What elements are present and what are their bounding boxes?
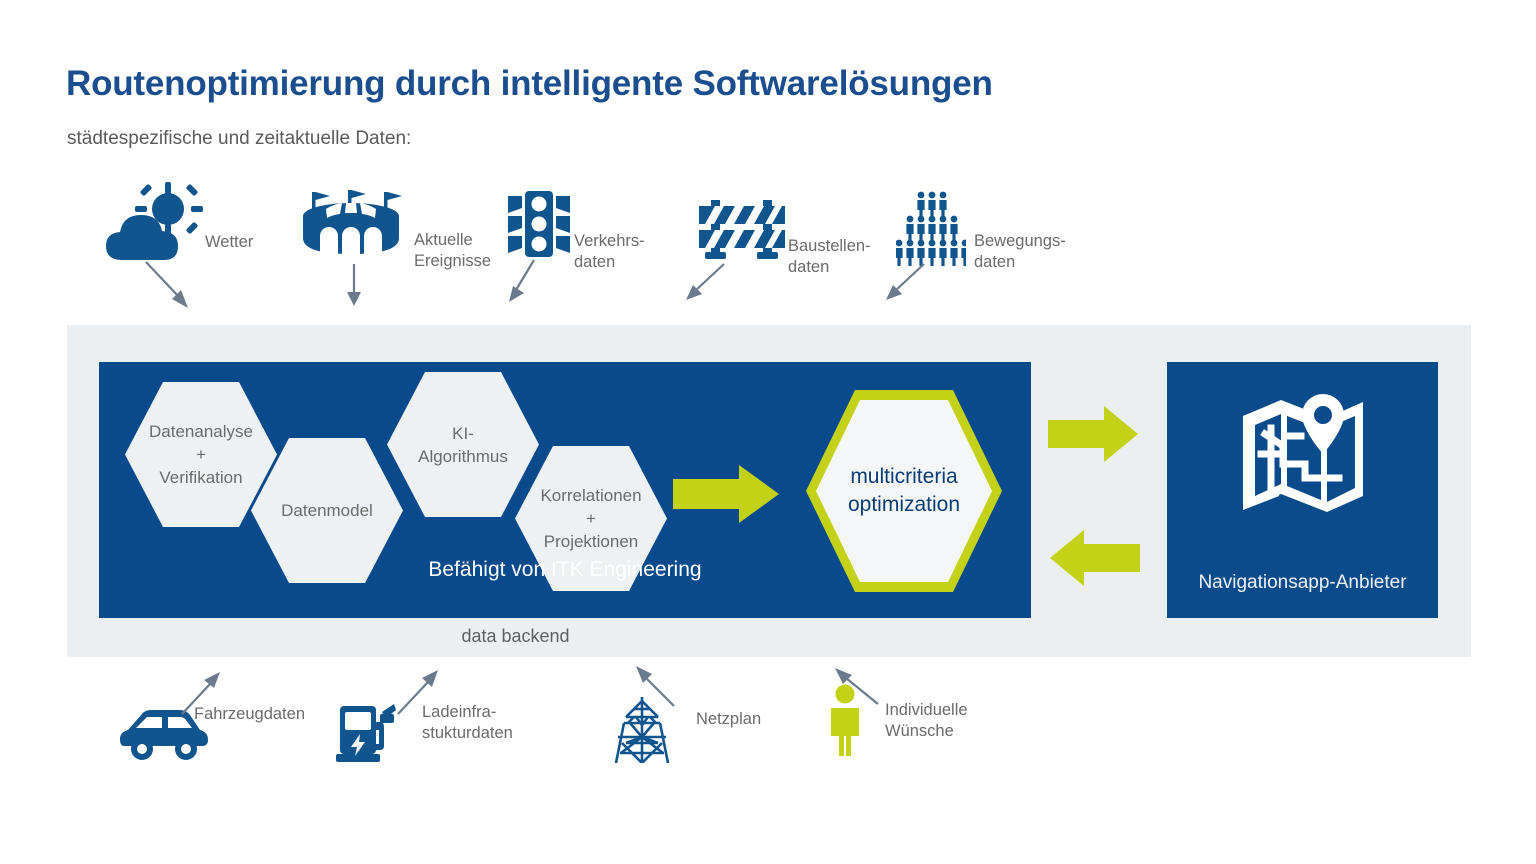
input-label-wetter: Wetter [205,232,253,253]
flow-arrow-up-ladeinfrastruktur [390,666,446,718]
input-item-verkehrsdaten[interactable]: Verkehrs- daten [508,191,570,257]
input-item-ladeinfrastruktur[interactable]: Ladeinfra- stukturdaten [336,700,398,762]
arrow-left-from-navapp-icon [1048,530,1140,586]
stadium-icon [296,190,406,260]
input-label-netzplan: Netzplan [696,709,761,730]
flow-arrow-up-netzplan [630,660,688,712]
input-label-bewegungsdaten: Bewegungs- daten [974,231,1066,273]
flow-arrow-down-ereignisse [344,262,370,310]
input-item-aktuelle-ereignisse[interactable]: Aktuelle Ereignisse [296,190,406,260]
input-label-individuelle-wuensche: Individuelle Wünsche [885,700,968,742]
flow-arrow-down-verkehrsdaten [506,258,554,310]
flow-arrow-up-fahrzeugdaten [172,666,228,718]
input-label-verkehrsdaten: Verkehrs- daten [574,231,645,273]
input-item-wetter[interactable]: Wetter [104,182,204,267]
navigation-app-label: Navigationsapp-Anbieter [1167,572,1438,594]
navigation-app-panel[interactable]: Navigationsapp-Anbieter [1167,362,1438,618]
construction-barrier-icon [697,196,787,260]
input-label-baustellendaten: Baustellen- daten [788,236,871,278]
flow-arrow-down-bewegungsdaten [880,262,938,314]
map-pin-icon [1235,392,1371,518]
people-crowd-icon [896,191,966,267]
traffic-light-icon [508,191,570,257]
page-subtitle: städtespezifische und zeitaktuelle Daten… [67,128,411,150]
page-title: Routenoptimierung durch intelligente Sof… [66,64,993,104]
data-backend-label: data backend [0,626,1031,647]
flow-arrow-down-wetter [140,258,200,314]
hex-multicriteria-label: multicriteria optimization [816,400,992,582]
input-item-baustellendaten[interactable]: Baustellen- daten [697,196,787,260]
ev-charging-station-icon [336,700,398,762]
hex-ki-algorithmus[interactable]: KI- Algorithmus [387,372,539,517]
arrow-to-optimizer-icon [673,465,781,523]
input-item-bewegungsdaten[interactable]: Bewegungs- daten [896,191,966,267]
weather-sun-cloud-icon [104,182,204,267]
arrow-right-to-navapp-icon [1048,406,1140,462]
flow-arrow-up-individuelle-wuensche [828,660,890,712]
input-label-aktuelle-ereignisse: Aktuelle Ereignisse [414,230,491,272]
flow-arrow-down-baustellendaten [680,262,738,314]
